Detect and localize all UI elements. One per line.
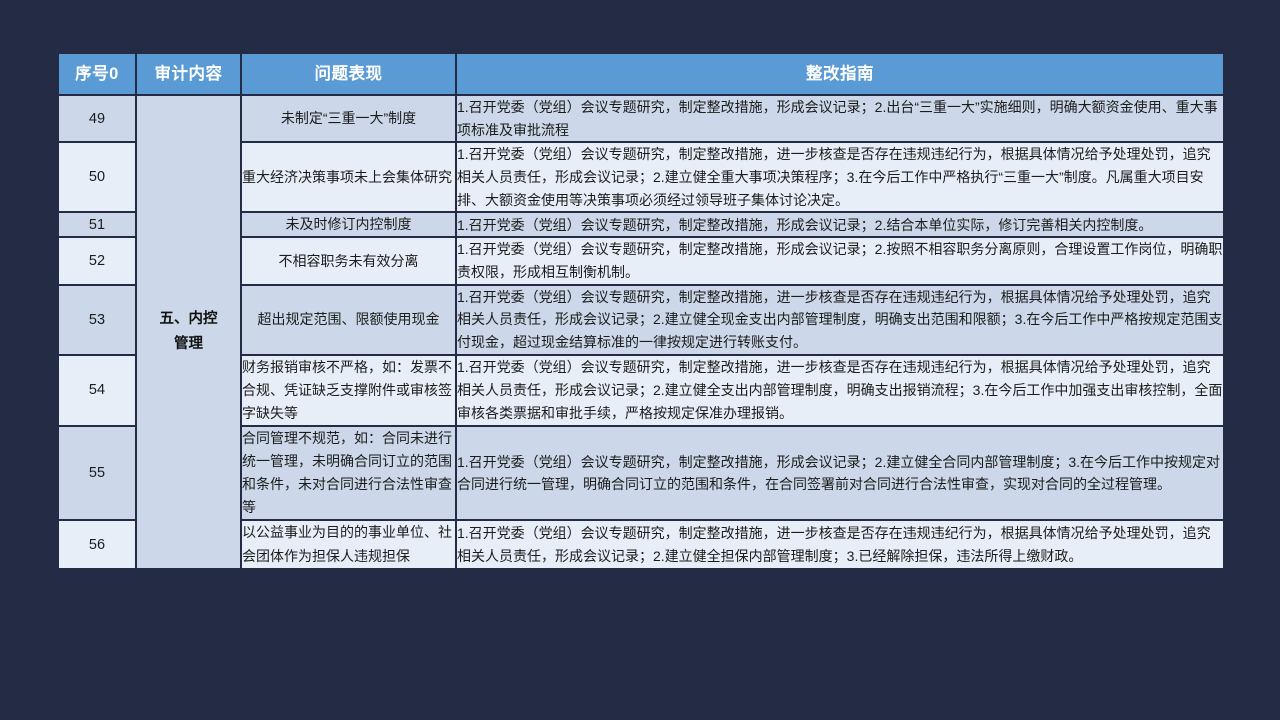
column-header-problem: 问题表现 xyxy=(242,54,455,94)
cell-rectification-guide: 1.召开党委（党组）会议专题研究，制定整改措施，进一步核查是否存在违规违纪行为，… xyxy=(457,143,1223,211)
cell-problem-description: 超出规定范围、限额使用现金 xyxy=(242,286,455,354)
cell-row-number: 52 xyxy=(59,238,135,283)
cell-rectification-guide: 1.召开党委（党组）会议专题研究，制定整改措施，进一步核查是否存在违规违纪行为，… xyxy=(457,356,1223,425)
cell-problem-description: 未制定“三重一大”制度 xyxy=(242,96,455,141)
column-header-audit-content: 审计内容 xyxy=(137,54,240,94)
cell-row-number: 54 xyxy=(59,356,135,425)
cell-rectification-guide: 1.召开党委（党组）会议专题研究，制定整改措施，形成会议记录；2.出台“三重一大… xyxy=(457,96,1223,141)
cell-problem-description: 合同管理不规范，如：合同未进行统一管理，未明确合同订立的范围和条件，未对合同进行… xyxy=(242,427,455,519)
cell-row-number: 50 xyxy=(59,143,135,211)
cell-audit-category: 五、内控管理 xyxy=(137,96,240,568)
cell-row-number: 51 xyxy=(59,213,135,236)
cell-rectification-guide: 1.召开党委（党组）会议专题研究，制定整改措施，形成会议记录；2.结合本单位实际… xyxy=(457,213,1223,236)
table-row[interactable]: 49五、内控管理未制定“三重一大”制度1.召开党委（党组）会议专题研究，制定整改… xyxy=(59,96,1223,141)
cell-rectification-guide: 1.召开党委（党组）会议专题研究，制定整改措施，进一步核查是否存在违规违纪行为，… xyxy=(457,521,1223,567)
cell-rectification-guide: 1.召开党委（党组）会议专题研究，制定整改措施，形成会议记录；2.建立健全合同内… xyxy=(457,427,1223,519)
cell-row-number: 56 xyxy=(59,521,135,567)
column-header-guide: 整改指南 xyxy=(457,54,1223,94)
column-header-no: 序号0 xyxy=(59,54,135,94)
cell-problem-description: 以公益事业为目的的事业单位、社会团体作为担保人违规担保 xyxy=(242,521,455,567)
table-body: 49五、内控管理未制定“三重一大”制度1.召开党委（党组）会议专题研究，制定整改… xyxy=(59,96,1223,568)
audit-category-line-1: 五、内控 xyxy=(137,307,240,332)
cell-row-number: 49 xyxy=(59,96,135,141)
cell-problem-description: 财务报销审核不严格，如：发票不合规、凭证缺乏支撑附件或审核签字缺失等 xyxy=(242,356,455,425)
cell-row-number: 53 xyxy=(59,286,135,354)
table-header: 序号0 审计内容 问题表现 整改指南 xyxy=(59,54,1223,94)
audit-rectification-table: 序号0 审计内容 问题表现 整改指南 49五、内控管理未制定“三重一大”制度1.… xyxy=(57,52,1225,570)
cell-problem-description: 未及时修订内控制度 xyxy=(242,213,455,236)
cell-problem-description: 不相容职务未有效分离 xyxy=(242,238,455,283)
slide-canvas: 序号0 审计内容 问题表现 整改指南 49五、内控管理未制定“三重一大”制度1.… xyxy=(0,0,1280,720)
cell-problem-description: 重大经济决策事项未上会集体研究 xyxy=(242,143,455,211)
audit-category-line-2: 管理 xyxy=(137,332,240,357)
table-header-row: 序号0 审计内容 问题表现 整改指南 xyxy=(59,54,1223,94)
cell-row-number: 55 xyxy=(59,427,135,519)
cell-rectification-guide: 1.召开党委（党组）会议专题研究，制定整改措施，形成会议记录；2.按照不相容职务… xyxy=(457,238,1223,283)
cell-rectification-guide: 1.召开党委（党组）会议专题研究，制定整改措施，进一步核查是否存在违规违纪行为，… xyxy=(457,286,1223,354)
